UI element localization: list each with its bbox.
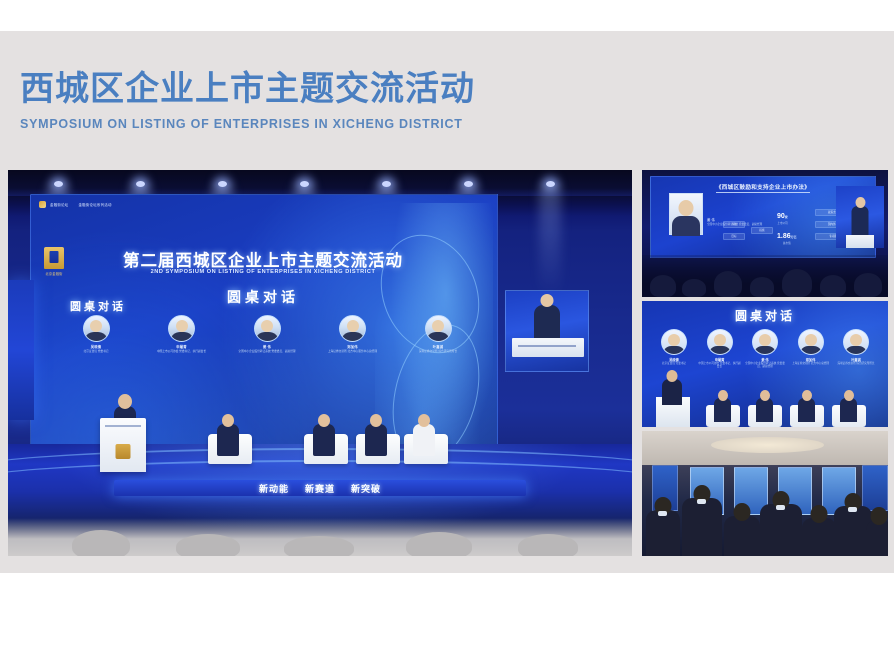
panelist-portrait (339, 315, 366, 342)
led-panelist: 姜 伟 全国中小企业股份转让系统 党委委员、副总经理 (238, 315, 296, 354)
panelist-figure (313, 424, 335, 456)
roundtable-screen-title: 圆桌对话 (642, 307, 888, 324)
panelist-title: 深圳证券交易所 综合研究所所长 (834, 362, 878, 365)
roundtable-screen-photo: 圆桌对话 吴晓倩 北京证监局 党委书记 申屠菁 中国上市公司协会 党委书记、执行… (642, 301, 888, 427)
face-mask-icon (848, 507, 857, 512)
audience-head (820, 275, 846, 297)
seated-panelist (208, 424, 252, 464)
roundtable-panelist-row: 吴晓倩 北京证监局 党委书记 申屠菁 中国上市公司协会 党委书记、执行副会长 姜… (652, 329, 878, 369)
slide-label-goal: 目标 (723, 233, 745, 240)
speaker-name: 姜 伟 (707, 217, 715, 222)
left-led-panel (8, 280, 34, 420)
seated-panelist (404, 424, 448, 464)
panelist-portrait (798, 329, 824, 355)
attendee-crowd (642, 482, 888, 556)
speaker-portrait (669, 193, 703, 235)
panelist-title: 中国上市公司协会 党委书记、执行副会长 (153, 350, 211, 354)
panelist-figure (217, 424, 239, 456)
attendee (866, 520, 888, 556)
led-panelist: 郑加伟 上海证券交易所 北方中心服务中心总经理 (324, 315, 382, 354)
panelist-name: 郑加伟 (324, 344, 382, 349)
left-panel-text: 圆桌对话 (38, 298, 158, 314)
audience-head (714, 271, 742, 297)
slide-stat: 1.86万亿 总市值 (777, 233, 797, 245)
moderator-figure (662, 379, 682, 405)
panelist-name: 申屠菁 (153, 344, 211, 349)
foreground-stage (642, 383, 888, 427)
led-logo-primary: 金融街论坛 (50, 202, 68, 207)
panelist-title: 全国中小企业股份转让系统 党委委员、副总经理 (743, 362, 787, 369)
audience-head (72, 530, 130, 556)
slide-label-measures: 措施 (751, 227, 773, 234)
stat-value: 1.86万亿 (777, 233, 797, 240)
panelist-figure (714, 398, 731, 422)
led-title-en: 2ND SYMPOSIUM ON LISTING OF ENTERPRISES … (83, 269, 443, 275)
led-panelist-row: 吴晓倩 北京证监局 党委书记 申屠菁 中国上市公司协会 党委书记、执行副会长 姜… (67, 315, 467, 354)
audience-area (642, 255, 888, 297)
event-emblem: 北京金融街 (39, 247, 69, 276)
seated-panelist (706, 397, 740, 427)
attendee (646, 510, 680, 556)
panelist-portrait (83, 315, 110, 342)
panelist-title: 北京证监局 党委书记 (67, 350, 125, 354)
page-root: 西城区企业上市主题交流活动 SYMPOSIUM ON LISTING OF EN… (0, 0, 894, 650)
panelist-portrait (661, 329, 687, 355)
attendee (682, 498, 722, 556)
led-logo-secondary: 金融街论坛系列活动 (78, 202, 111, 207)
logo-mark-icon (39, 201, 46, 208)
audience-head (176, 534, 240, 556)
audience-head (782, 269, 812, 297)
panelist-portrait (707, 329, 733, 355)
panelist-portrait (425, 315, 452, 342)
attendee (760, 504, 802, 556)
audience-head (518, 534, 578, 556)
panelist-figure (840, 398, 857, 422)
attendee (802, 518, 836, 556)
light-beam (539, 186, 561, 296)
led-panelist: 吴晓倩 北京证监局 党委书记 (67, 315, 125, 354)
led-corner-logo: 金融街论坛 金融街论坛系列活动 (39, 201, 112, 208)
seated-panelist (356, 424, 400, 464)
emblem-label: 北京金融街 (39, 271, 69, 276)
panelist-name: 叶嘉诚 (409, 344, 467, 349)
panelist-figure (798, 398, 815, 422)
main-stage-photo: 金融街论坛 金融街论坛系列活动 北京金融街 第二届西城区企业上市主题交流活动 2… (8, 170, 632, 556)
stat-label: 总市值 (777, 241, 797, 245)
panelist-portrait (254, 315, 281, 342)
side-screen-speaker (836, 186, 884, 248)
stat-label: 上市公司 (777, 221, 788, 225)
ceiling (642, 431, 888, 465)
face-mask-icon (776, 505, 785, 510)
panelist-figure (413, 424, 435, 456)
panelist-title: 中国上市公司协会 党委书记、执行副会长 (698, 362, 742, 369)
panelist-portrait (843, 329, 869, 355)
stage-slogan-1: 新动能 (259, 482, 289, 495)
led-panelist: 叶嘉诚 深圳证券交易所 综合研究所所长 (409, 315, 467, 354)
attendee (724, 516, 760, 556)
lectern-shape (512, 338, 584, 357)
photo-collage: 金融街论坛 金融街论坛系列活动 北京金融街 第二届西城区企业上市主题交流活动 2… (8, 170, 888, 556)
podium-shape (846, 235, 874, 248)
panelist-title: 北京证监局 党委书记 (652, 362, 696, 365)
led-title-cn: 第二届西城区企业上市主题交流活动 (83, 247, 443, 271)
speaker-figure (852, 206, 869, 236)
panelist-portrait (752, 329, 778, 355)
roundtable-panelist: 姜 伟 全国中小企业股份转让系统 党委委员、副总经理 (743, 329, 787, 369)
audience-head (854, 273, 882, 297)
roundtable-panelist: 吴晓倩 北京证监局 党委书记 (652, 329, 696, 369)
seated-panelist (748, 397, 782, 427)
keynote-photo: 《西城区鼓励和支持企业上市办法》 姜 伟 全国中小企业股份转让系统 党委委员、副… (642, 170, 888, 297)
panelist-title: 上海证券交易所 北方中心总经理 (789, 362, 833, 365)
panelist-figure (756, 398, 773, 422)
audience-head (750, 277, 774, 297)
audience-head (284, 536, 354, 556)
panelist-title: 上海证券交易所 北方中心服务中心总经理 (324, 350, 382, 354)
right-led-screen (505, 290, 589, 372)
emblem-badge-icon (44, 247, 64, 269)
panelist-figure (365, 424, 387, 456)
audience-head (406, 532, 472, 556)
header: 西城区企业上市主题交流活动 SYMPOSIUM ON LISTING OF EN… (20, 68, 720, 131)
slide-title: 《西城区鼓励和支持企业上市办法》 (716, 185, 810, 193)
face-mask-icon (658, 511, 667, 516)
foreground-audience (8, 518, 632, 556)
panelist-title: 全国中小企业股份转让系统 党委委员、副总经理 (238, 350, 296, 354)
seated-panelist (790, 397, 824, 427)
seated-panelist (304, 424, 348, 464)
panelist-name: 姜 伟 (238, 344, 296, 349)
audience-head (682, 279, 706, 297)
audience-head (650, 275, 676, 297)
face-mask-icon (697, 499, 706, 504)
podium-nameplate (105, 425, 141, 427)
roundtable-panelist: 申屠菁 中国上市公司协会 党委书记、执行副会长 (698, 329, 742, 369)
stage-slogan-2: 新赛道 (305, 482, 335, 495)
stage-front-led-strip: 新动能 新赛道 新突破 (114, 480, 526, 496)
stage-slogan-3: 新突破 (351, 482, 381, 495)
podium (100, 418, 146, 472)
panelist-title: 深圳证券交易所 综合研究所所长 (409, 350, 467, 354)
led-panelist: 申屠菁 中国上市公司协会 党委书记、执行副会长 (153, 315, 211, 354)
roundtable-panelist: 叶嘉诚 深圳证券交易所 综合研究所所长 (834, 329, 878, 369)
seated-panelist (832, 397, 866, 427)
page-title: 西城区企业上市主题交流活动 (20, 68, 720, 110)
slide-label-background: 背景 (723, 221, 745, 228)
page-subtitle: SYMPOSIUM ON LISTING OF ENTERPRISES IN X… (20, 117, 720, 131)
roundtable-panelist: 郑加伟 上海证券交易所 北方中心总经理 (789, 329, 833, 369)
panelist-name: 吴晓倩 (67, 344, 125, 349)
panelist-portrait (168, 315, 195, 342)
stat-value: 90家 (777, 213, 788, 220)
networking-photo (642, 431, 888, 556)
slide-stat: 90家 上市公司 (777, 213, 788, 225)
